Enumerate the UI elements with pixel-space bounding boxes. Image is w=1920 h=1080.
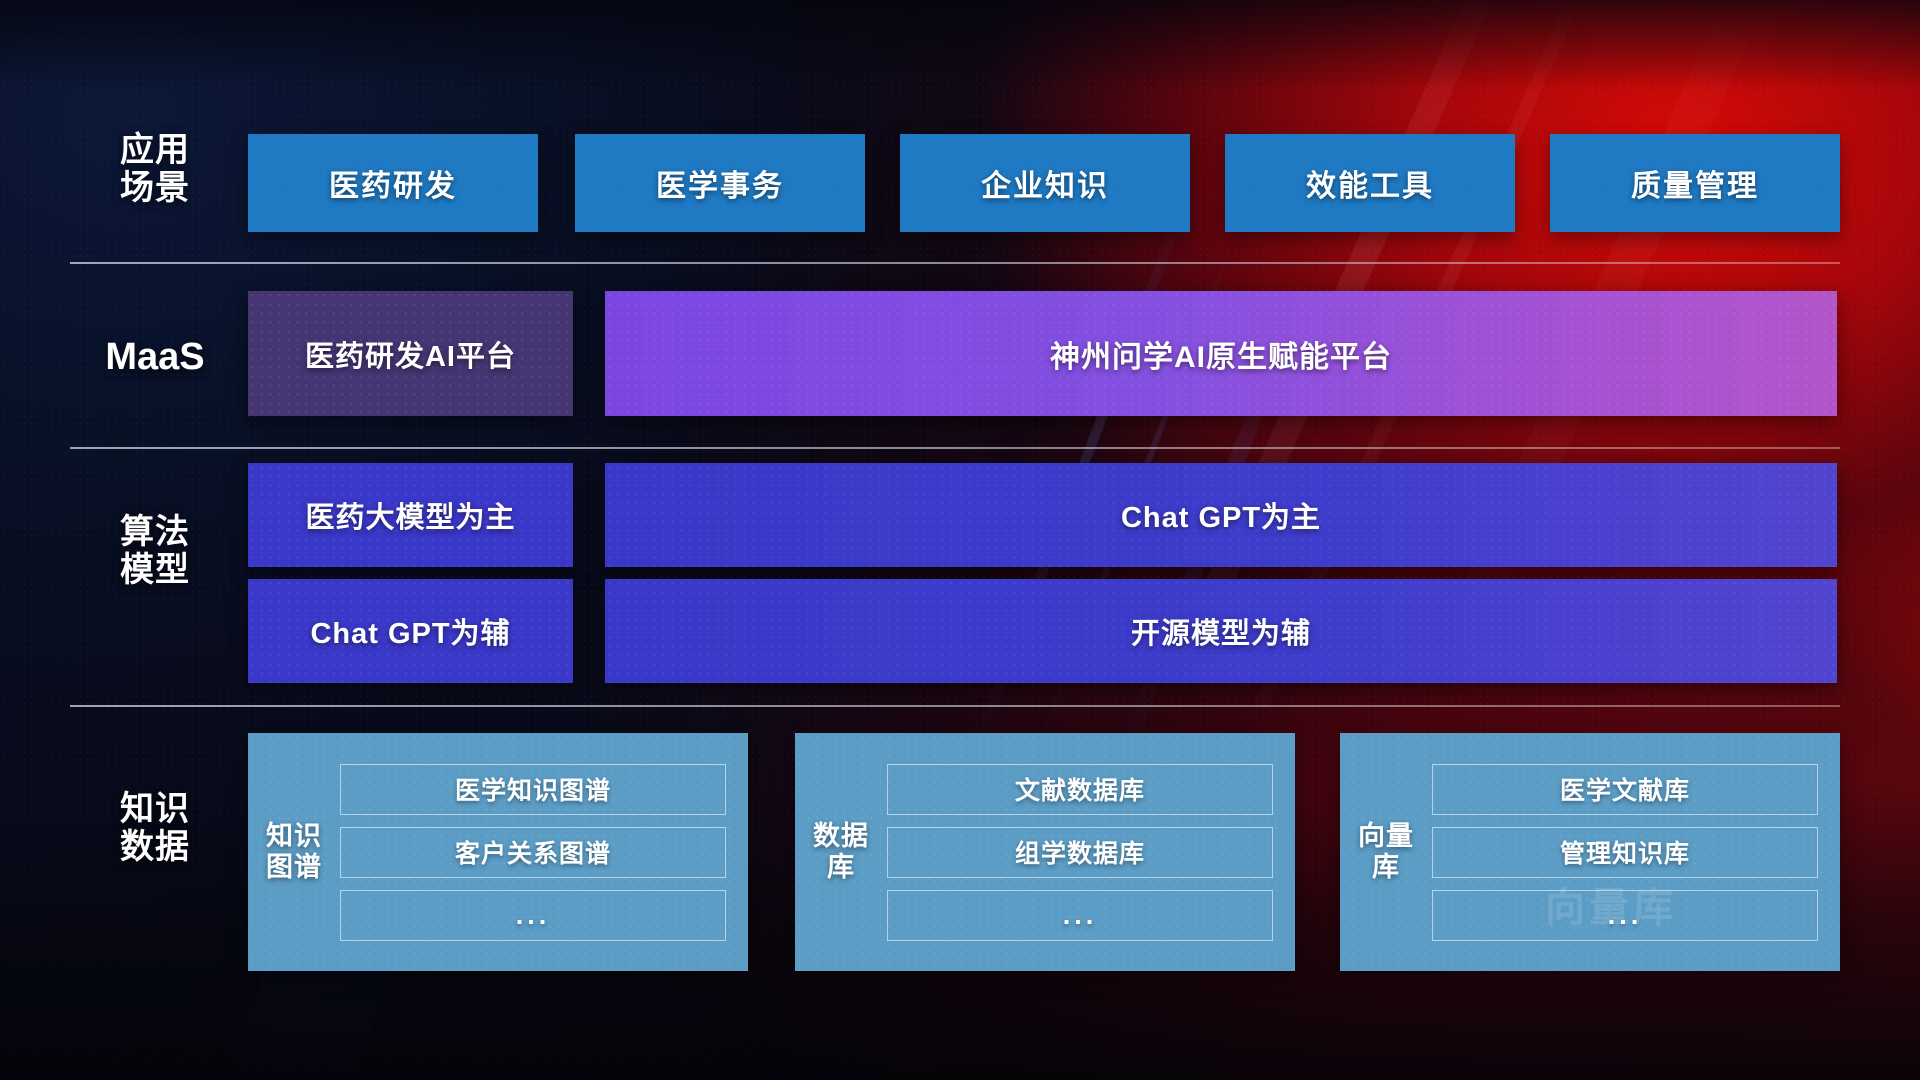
app-card-medical-affairs[interactable]: 医学事务 — [575, 134, 865, 232]
knowledge-group-title: 知识 图谱 — [248, 821, 340, 883]
knowledge-item[interactable]: 组学数据库 — [887, 827, 1273, 878]
algo-card-chatgpt-primary[interactable]: Chat GPT为主 — [605, 463, 1837, 567]
app-card-label: 质量管理 — [1631, 161, 1759, 205]
maas-card-shenzhou-wenxue-platform[interactable]: 神州问学AI原生赋能平台 — [605, 291, 1837, 416]
algo-card-opensource-secondary[interactable]: 开源模型为辅 — [605, 579, 1837, 683]
knowledge-item-more[interactable]: ... — [340, 890, 726, 941]
algo-card-label: 医药大模型为主 — [305, 494, 515, 536]
algo-card-label: Chat GPT为主 — [1121, 494, 1321, 536]
maas-card-medicine-ai-platform[interactable]: 医药研发AI平台 — [248, 291, 573, 416]
knowledge-group-title: 数据 库 — [795, 821, 887, 883]
algo-card-label: Chat GPT为辅 — [310, 610, 510, 652]
knowledge-group-knowledge-graph[interactable]: 知识 图谱 医学知识图谱 客户关系图谱 ... — [248, 733, 748, 971]
algo-card-medicine-llm-primary[interactable]: 医药大模型为主 — [248, 463, 573, 567]
algo-card-chatgpt-secondary[interactable]: Chat GPT为辅 — [248, 579, 573, 683]
divider-1 — [70, 262, 1840, 264]
divider-3 — [70, 705, 1840, 707]
row-label-algorithm-model: 算法 模型 — [70, 513, 240, 589]
app-card-label: 医药研发 — [329, 161, 457, 205]
maas-card-label: 神州问学AI原生赋能平台 — [1050, 332, 1392, 376]
algo-card-label: 开源模型为辅 — [1131, 610, 1311, 652]
knowledge-group-title: 向量 库 — [1340, 821, 1432, 883]
knowledge-item-more[interactable]: ... — [1432, 890, 1818, 941]
app-card-medicine-rd[interactable]: 医药研发 — [248, 134, 538, 232]
row-label-maas: MaaS — [70, 336, 240, 379]
knowledge-item-more[interactable]: ... — [887, 890, 1273, 941]
knowledge-item[interactable]: 文献数据库 — [887, 764, 1273, 815]
knowledge-item[interactable]: 客户关系图谱 — [340, 827, 726, 878]
app-card-label: 医学事务 — [656, 161, 784, 205]
row-label-application-scenarios: 应用 场景 — [70, 131, 240, 207]
app-card-label: 企业知识 — [981, 161, 1109, 205]
knowledge-group-vector-store[interactable]: 向量 库 医学文献库 管理知识库 ... 向量库 — [1340, 733, 1840, 971]
row-label-knowledge-data: 知识 数据 — [70, 790, 240, 866]
slide-canvas: 应用 场景 医药研发 医学事务 企业知识 效能工具 质量管理 MaaS 医药研发… — [0, 0, 1920, 1080]
app-card-enterprise-knowledge[interactable]: 企业知识 — [900, 134, 1190, 232]
knowledge-item[interactable]: 医学文献库 — [1432, 764, 1818, 815]
knowledge-group-database[interactable]: 数据 库 文献数据库 组学数据库 ... — [795, 733, 1295, 971]
app-card-efficiency-tools[interactable]: 效能工具 — [1225, 134, 1515, 232]
maas-card-label: 医药研发AI平台 — [305, 333, 516, 375]
knowledge-item[interactable]: 医学知识图谱 — [340, 764, 726, 815]
divider-2 — [70, 447, 1840, 449]
app-card-quality-management[interactable]: 质量管理 — [1550, 134, 1840, 232]
knowledge-item[interactable]: 管理知识库 — [1432, 827, 1818, 878]
app-card-label: 效能工具 — [1306, 161, 1434, 205]
